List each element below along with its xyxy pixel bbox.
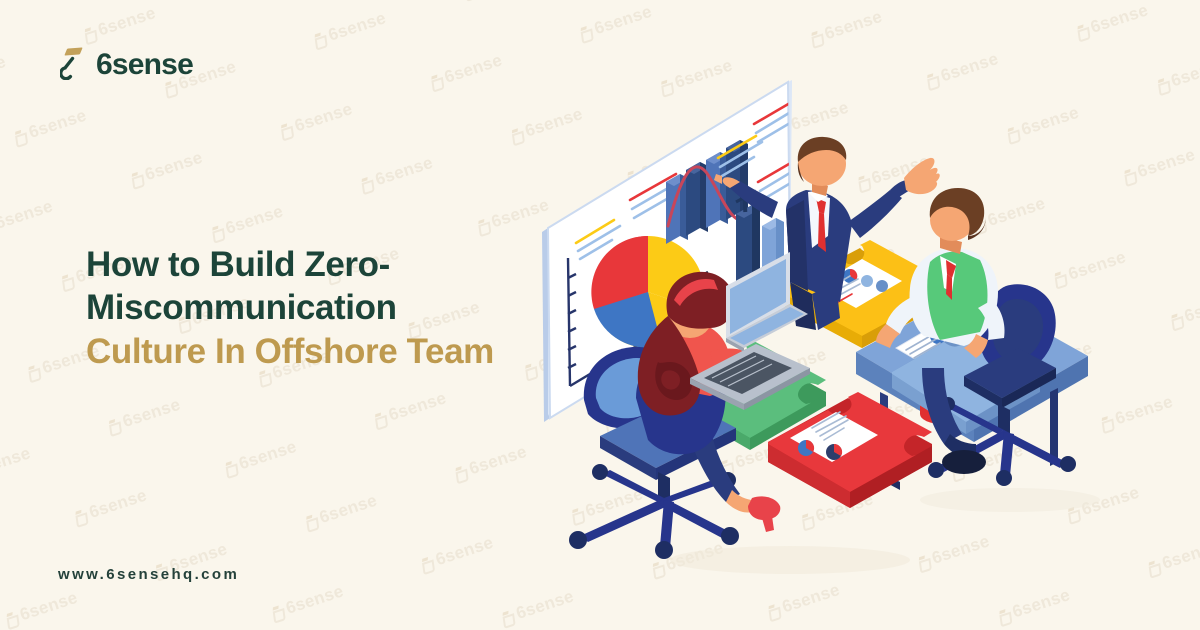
watermark-mark-icon	[3, 611, 17, 627]
watermark-mark-icon	[269, 605, 283, 621]
watermark-text: 6sense	[373, 153, 436, 190]
watermark-6sense: 6sense	[80, 3, 158, 45]
watermark-text: 6sense	[120, 395, 183, 432]
watermark-mark-icon	[128, 171, 142, 187]
offshore-team-collaboration-illustration	[540, 0, 1200, 630]
brand-logo[interactable]: 6sense	[58, 48, 193, 82]
page-title: How to Build Zero- Miscommunication Cult…	[86, 243, 556, 373]
watermark-6sense: 6sense	[427, 50, 505, 92]
watermark-mark-icon	[12, 129, 26, 145]
watermark-text: 6sense	[317, 491, 380, 528]
watermark-6sense: 6sense	[127, 148, 205, 190]
title-line-2: Miscommunication	[86, 286, 556, 329]
watermark-mark-icon	[59, 273, 73, 289]
watermark-6sense: 6sense	[105, 395, 183, 437]
watermark-text: 6sense	[96, 3, 159, 40]
watermark-6sense: 6sense	[277, 99, 355, 141]
watermark-6sense: 6sense	[0, 52, 9, 94]
watermark-6sense: 6sense	[460, 0, 538, 2]
watermark-6sense: 6sense	[371, 388, 449, 430]
watermark-mark-icon	[303, 514, 317, 530]
watermark-mark-icon	[428, 74, 442, 90]
watermark-mark-icon	[475, 218, 489, 234]
watermark-text: 6sense	[17, 588, 80, 625]
watermark-6sense: 6sense	[0, 196, 56, 238]
watermark-6sense: 6sense	[358, 153, 436, 195]
watermark-mark-icon	[106, 418, 120, 434]
watermark-mark-icon	[162, 80, 176, 96]
watermark-text: 6sense	[326, 8, 389, 45]
watermark-6sense: 6sense	[268, 581, 346, 623]
watermark-6sense: 6sense	[208, 201, 286, 243]
watermark-text: 6sense	[0, 52, 9, 89]
watermark-mark-icon	[359, 176, 373, 192]
watermark-text: 6sense	[386, 388, 449, 425]
6sense-mark-icon	[58, 48, 86, 82]
watermark-6sense: 6sense	[302, 491, 380, 533]
watermark-mark-icon	[81, 26, 95, 42]
watermark-6sense: 6sense	[11, 106, 89, 148]
watermark-mark-icon	[372, 411, 386, 427]
watermark-text: 6sense	[292, 99, 355, 136]
watermark-mark-icon	[73, 509, 87, 525]
watermark-text: 6sense	[87, 485, 150, 522]
footer-url[interactable]: www.6sensehq.com	[58, 566, 239, 583]
title-line-1: How to Build Zero-	[86, 243, 556, 286]
watermark-mark-icon	[209, 225, 223, 241]
brand-logo-text: 6sense	[96, 48, 193, 82]
watermark-mark-icon	[419, 556, 433, 572]
watermark-6sense: 6sense	[221, 437, 299, 479]
title-line-3: Culture In Offshore Team	[86, 330, 556, 373]
watermark-text: 6sense	[467, 442, 530, 479]
watermark-text: 6sense	[283, 581, 346, 618]
watermark-text: 6sense	[223, 201, 286, 238]
watermark-mark-icon	[500, 610, 514, 626]
watermark-text: 6sense	[236, 437, 299, 474]
watermark-6sense: 6sense	[2, 588, 80, 630]
watermark-mark-icon	[312, 31, 326, 47]
watermark-mark-icon	[26, 364, 40, 380]
watermark-6sense: 6sense	[452, 442, 530, 484]
watermark-text: 6sense	[0, 443, 33, 480]
watermark-6sense: 6sense	[71, 485, 149, 527]
watermark-6sense: 6sense	[311, 8, 389, 50]
watermark-mark-icon	[222, 460, 236, 476]
watermark-6sense: 6sense	[0, 443, 33, 485]
watermark-mark-icon	[278, 122, 292, 138]
watermark-text: 6sense	[0, 196, 56, 233]
watermark-mark-icon	[453, 465, 467, 481]
watermark-6sense: 6sense	[418, 533, 496, 575]
watermark-text: 6sense	[433, 533, 496, 570]
watermark-text: 6sense	[143, 148, 206, 185]
watermark-text: 6sense	[26, 106, 89, 143]
watermark-mark-icon	[508, 127, 522, 143]
social-card-canvas: 6sense6sense6sense6sense6sense6sense6sen…	[0, 0, 1200, 630]
watermark-text: 6sense	[442, 50, 505, 87]
